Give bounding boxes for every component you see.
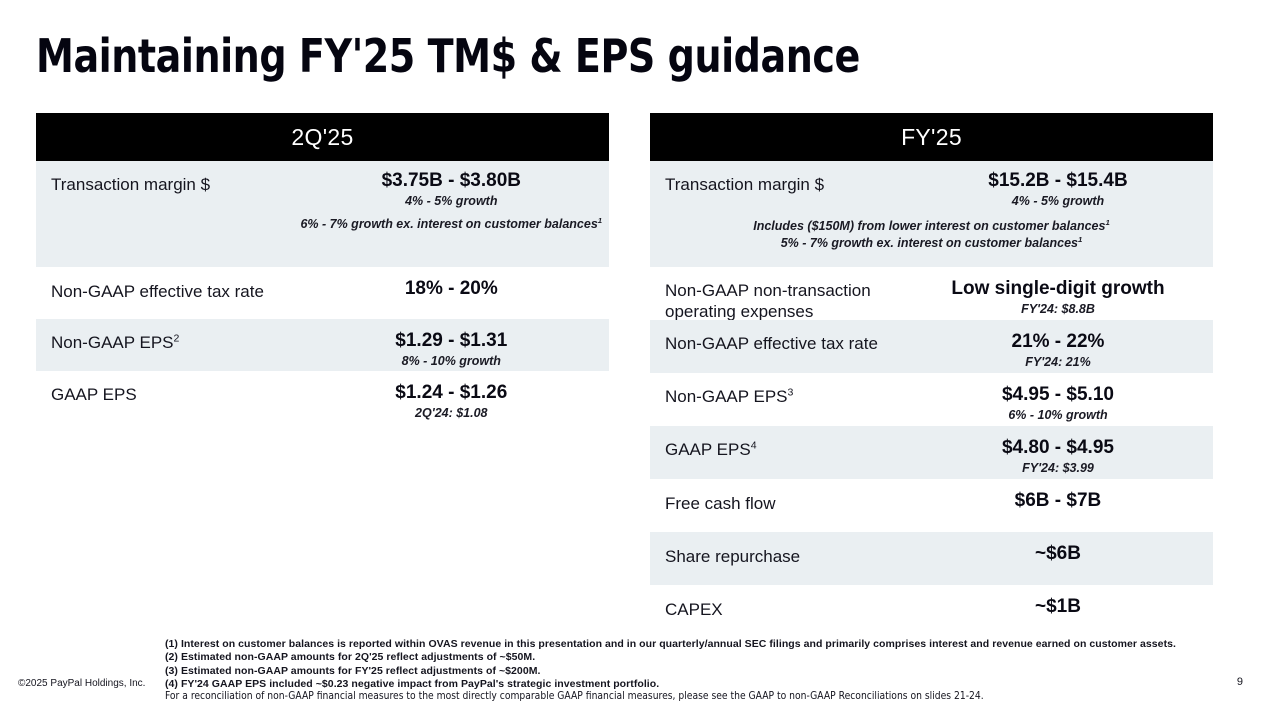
row-label: GAAP EPS <box>36 371 300 406</box>
table-row: Free cash flow$6B - $7B <box>650 479 1213 532</box>
row-value: ~$6B <box>909 532 1213 566</box>
row-value-main: ~$1B <box>909 596 1207 619</box>
table-row: Transaction margin $$15.2B - $15.4B4% - … <box>650 161 1213 267</box>
table-row: GAAP EPS$1.24 - $1.262Q'24: $1.08 <box>36 371 609 423</box>
table-body-2q25: Transaction margin $$3.75B - $3.80B4% - … <box>36 161 609 423</box>
row-value: $1.24 - $1.262Q'24: $1.08 <box>300 371 609 421</box>
row-value-sub: 6% - 10% growth <box>909 408 1207 424</box>
slide-root: Maintaining FY'25 TM$ & EPS guidance 2Q'… <box>0 0 1261 706</box>
footnote-item: (1) Interest on customer balances is rep… <box>165 638 1176 651</box>
row-value: Low single-digit growthFY'24: $8.8B <box>909 267 1213 317</box>
table-header-fy25: FY'25 <box>650 113 1213 161</box>
row-label-footnote-marker: 2 <box>174 332 180 344</box>
row-label: Non-GAAP EPS3 <box>650 373 909 408</box>
table-row: Share repurchase~$6B <box>650 532 1213 585</box>
row-label: Transaction margin $ <box>650 161 909 196</box>
row-value-main: $15.2B - $15.4B <box>909 170 1207 193</box>
row-full-note-line: 5% - 7% growth ex. interest on customer … <box>650 235 1213 252</box>
table-row: Non-GAAP effective tax rate18% - 20% <box>36 267 609 319</box>
row-value-sub: FY'24: 21% <box>909 355 1207 371</box>
row-value-sub: 4% - 5% growth <box>300 194 603 210</box>
table-header-2q25: 2Q'25 <box>36 113 609 161</box>
row-label: Transaction margin $ <box>36 161 300 196</box>
row-value: $4.95 - $5.106% - 10% growth <box>909 373 1213 423</box>
row-label: Share repurchase <box>650 532 909 568</box>
row-value-main: 21% - 22% <box>909 331 1207 354</box>
row-value: $3.75B - $3.80B4% - 5% growth <box>300 161 609 209</box>
footnote-item: (3) Estimated non-GAAP amounts for FY'25… <box>165 665 1176 678</box>
guidance-table-2q25: 2Q'25 Transaction margin $$3.75B - $3.80… <box>36 113 609 423</box>
row-value: 21% - 22%FY'24: 21% <box>909 320 1213 370</box>
footnotes-list: (1) Interest on customer balances is rep… <box>165 638 1176 692</box>
row-label: CAPEX <box>650 585 909 621</box>
table-body-fy25: Transaction margin $$15.2B - $15.4B4% - … <box>650 161 1213 638</box>
row-full-note-line: 6% - 7% growth ex. interest on customer … <box>300 216 603 233</box>
row-label: Non-GAAP non-transaction operating expen… <box>650 267 909 322</box>
row-value-main: ~$6B <box>909 543 1207 566</box>
row-label-footnote-marker: 3 <box>788 386 794 398</box>
row-value: $15.2B - $15.4B4% - 5% growth <box>909 161 1213 209</box>
row-value-sub: 8% - 10% growth <box>300 354 603 370</box>
row-value-sub: FY'24: $8.8B <box>909 302 1207 318</box>
table-row: Non-GAAP non-transaction operating expen… <box>650 267 1213 320</box>
row-label-footnote-marker: 4 <box>751 439 757 451</box>
row-label: GAAP EPS4 <box>650 426 909 461</box>
table-row: Non-GAAP effective tax rate21% - 22%FY'2… <box>650 320 1213 373</box>
row-value-sub: 4% - 5% growth <box>909 194 1207 210</box>
row-value-sub: FY'24: $3.99 <box>909 461 1207 477</box>
row-value-main: Low single-digit growth <box>909 278 1207 301</box>
table-row: CAPEX~$1B <box>650 585 1213 638</box>
row-value-main: $3.75B - $3.80B <box>300 170 603 193</box>
row-full-note: 6% - 7% growth ex. interest on customer … <box>300 216 603 233</box>
row-value-main: $1.29 - $1.31 <box>300 330 603 353</box>
row-label: Non-GAAP effective tax rate <box>650 320 909 355</box>
copyright-text: ©2025 PayPal Holdings, Inc. <box>18 678 145 689</box>
row-value: 18% - 20% <box>300 267 609 301</box>
reconciliation-note: For a reconciliation of non-GAAP financi… <box>165 689 984 702</box>
row-value-main: $1.24 - $1.26 <box>300 382 603 405</box>
full-note-footnote-marker: 1 <box>1105 218 1109 227</box>
row-label: Free cash flow <box>650 479 909 515</box>
page-title: Maintaining FY'25 TM$ & EPS guidance <box>36 32 860 80</box>
guidance-table-fy25: FY'25 Transaction margin $$15.2B - $15.4… <box>650 113 1213 638</box>
full-note-footnote-marker: 1 <box>1078 235 1082 244</box>
full-note-footnote-marker: 1 <box>598 216 602 225</box>
table-row: Non-GAAP EPS2$1.29 - $1.318% - 10% growt… <box>36 319 609 371</box>
row-label: Non-GAAP EPS2 <box>36 319 300 354</box>
row-value-main: $6B - $7B <box>909 490 1207 513</box>
row-value: $4.80 - $4.95FY'24: $3.99 <box>909 426 1213 476</box>
row-value: $6B - $7B <box>909 479 1213 513</box>
row-value-sub: 2Q'24: $1.08 <box>300 406 603 422</box>
row-full-note-line: Includes ($150M) from lower interest on … <box>650 218 1213 235</box>
table-row: Transaction margin $$3.75B - $3.80B4% - … <box>36 161 609 267</box>
footnote-item: (2) Estimated non-GAAP amounts for 2Q'25… <box>165 651 1176 664</box>
row-full-note: Includes ($150M) from lower interest on … <box>650 218 1213 252</box>
row-value: ~$1B <box>909 585 1213 619</box>
table-row: Non-GAAP EPS3$4.95 - $5.106% - 10% growt… <box>650 373 1213 426</box>
table-row: GAAP EPS4$4.80 - $4.95FY'24: $3.99 <box>650 426 1213 479</box>
row-value-main: 18% - 20% <box>300 278 603 301</box>
row-label: Non-GAAP effective tax rate <box>36 267 300 303</box>
row-value-main: $4.80 - $4.95 <box>909 437 1207 460</box>
row-value: $1.29 - $1.318% - 10% growth <box>300 319 609 369</box>
row-value-main: $4.95 - $5.10 <box>909 384 1207 407</box>
page-number: 9 <box>1237 676 1243 688</box>
